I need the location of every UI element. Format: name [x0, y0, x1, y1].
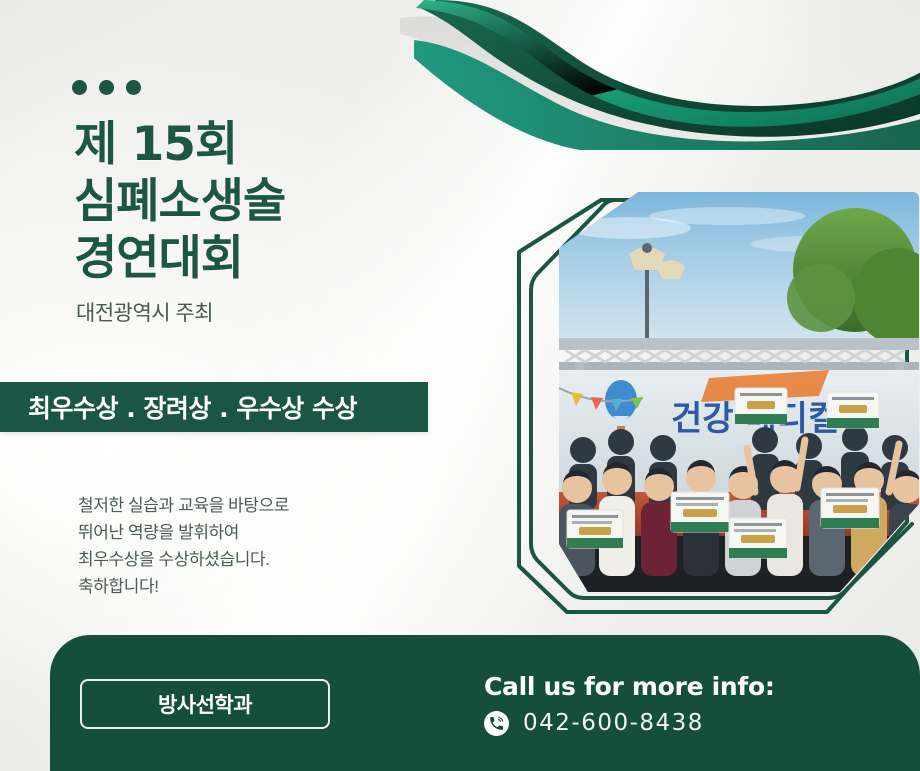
phone-row[interactable]: 042-600-8438	[484, 710, 775, 736]
award-banner: 최우수상 . 장려상 . 우수상 수상	[0, 382, 428, 432]
dot-icon	[72, 80, 87, 95]
dot-icon	[126, 80, 141, 95]
phone-number: 042-600-8438	[523, 710, 704, 736]
department-button-label: 방사선학과	[158, 689, 252, 719]
body-paragraph: 철저한 실습과 교육을 바탕으로 뛰어난 역량을 발휘하여 최우수상을 수상하셨…	[78, 492, 289, 600]
event-photo: 건강 메디컬	[559, 192, 919, 592]
dot-icon	[99, 80, 114, 95]
department-button[interactable]: 방사선학과	[80, 679, 330, 729]
page-subtitle: 대전광역시 주최	[76, 297, 213, 327]
dots-decoration	[72, 80, 141, 95]
page-title: 제 15회 심폐소생술 경연대회	[74, 116, 285, 287]
event-photo-content: 건강 메디컬	[559, 192, 919, 592]
award-banner-label: 최우수상 . 장려상 . 우수상 수상	[28, 389, 357, 425]
phone-call-icon	[484, 711, 509, 736]
poster-canvas: 제 15회 심폐소생술 경연대회 대전광역시 주최 최우수상 . 장려상 . 우…	[0, 0, 920, 771]
contact-title: Call us for more info:	[484, 672, 775, 701]
contact-block: Call us for more info: 042-600-8438	[484, 672, 775, 736]
photo-hexagon-frame: 건강 메디컬	[515, 178, 920, 623]
ribbon-waves-decoration	[380, 0, 920, 150]
